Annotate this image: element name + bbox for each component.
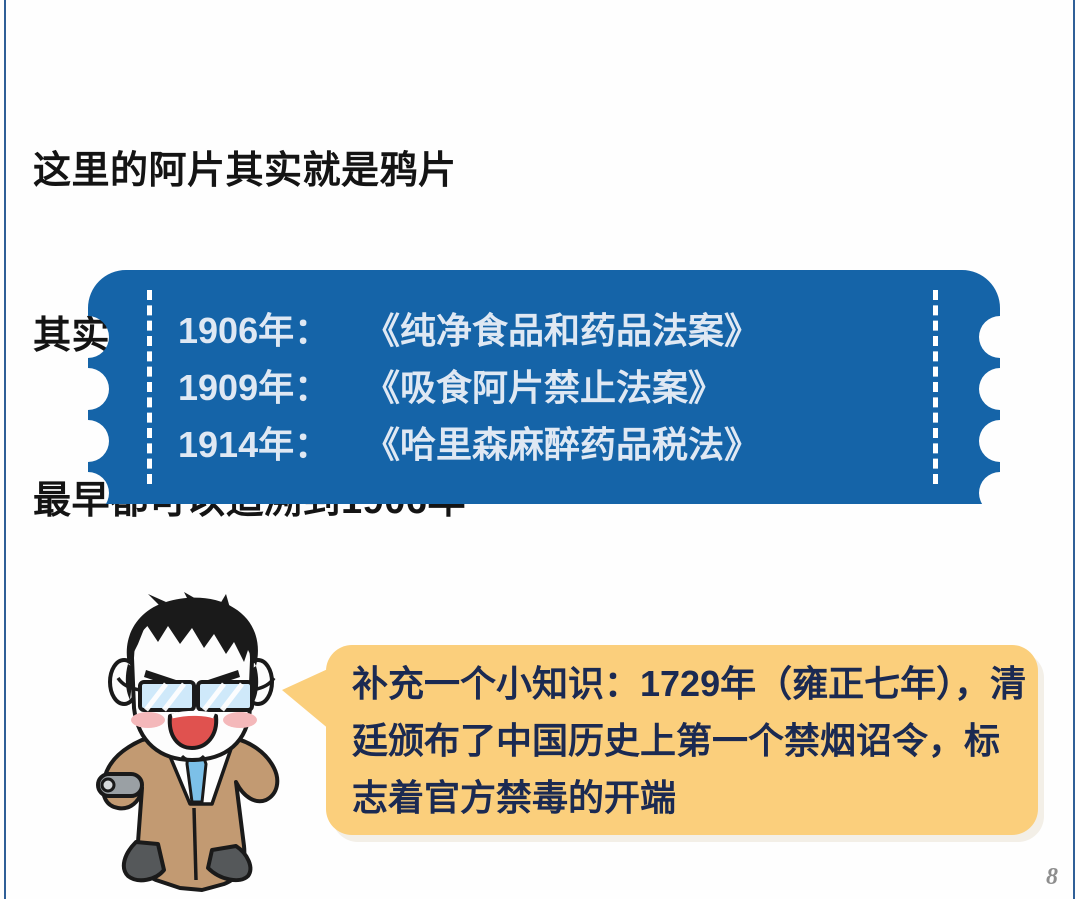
- legislation-year: 1909年：: [178, 359, 364, 416]
- legislation-year: 1906年：: [178, 302, 364, 359]
- legislation-year: 1914年：: [178, 416, 364, 473]
- mascot-character: [84, 592, 314, 892]
- page-number: 8: [1046, 864, 1058, 891]
- heading-line-1: 这里的阿片其实就是鸦片: [33, 144, 993, 199]
- ticket-perforation-left: [147, 290, 152, 484]
- list-item: 1909年： 《吸食阿片禁止法案》: [178, 359, 918, 416]
- list-item: 1914年： 《哈里森麻醉药品税法》: [178, 416, 918, 473]
- legislation-act: 《吸食阿片禁止法案》: [364, 359, 918, 416]
- ticket-perforation-right: [933, 290, 938, 484]
- legislation-act: 《纯净食品和药品法案》: [364, 302, 918, 359]
- speech-bubble-tail: [282, 668, 330, 730]
- list-item: 1906年： 《纯净食品和药品法案》: [178, 302, 918, 359]
- slide-left-border: [4, 0, 6, 899]
- mascot-mouth: [170, 713, 216, 748]
- mascot-hand-object: [98, 774, 142, 796]
- mascot-illustration: [84, 592, 314, 892]
- speech-bubble-text: 补充一个小知识：1729年（雍正七年），清廷颁布了中国历史上第一个禁烟诏令，标志…: [352, 655, 1028, 826]
- slide-right-border: [1073, 0, 1075, 899]
- slide-canvas: 这里的阿片其实就是鸦片 其实美国政府不仅禁毒，而且从很早就开始禁 最早都可以追溯…: [0, 0, 1080, 899]
- legislation-list: 1906年： 《纯净食品和药品法案》 1909年： 《吸食阿片禁止法案》 191…: [178, 296, 918, 478]
- legislation-ticket-box: 1906年： 《纯净食品和药品法案》 1909年： 《吸食阿片禁止法案》 191…: [88, 270, 1000, 504]
- legislation-act: 《哈里森麻醉药品税法》: [364, 416, 918, 473]
